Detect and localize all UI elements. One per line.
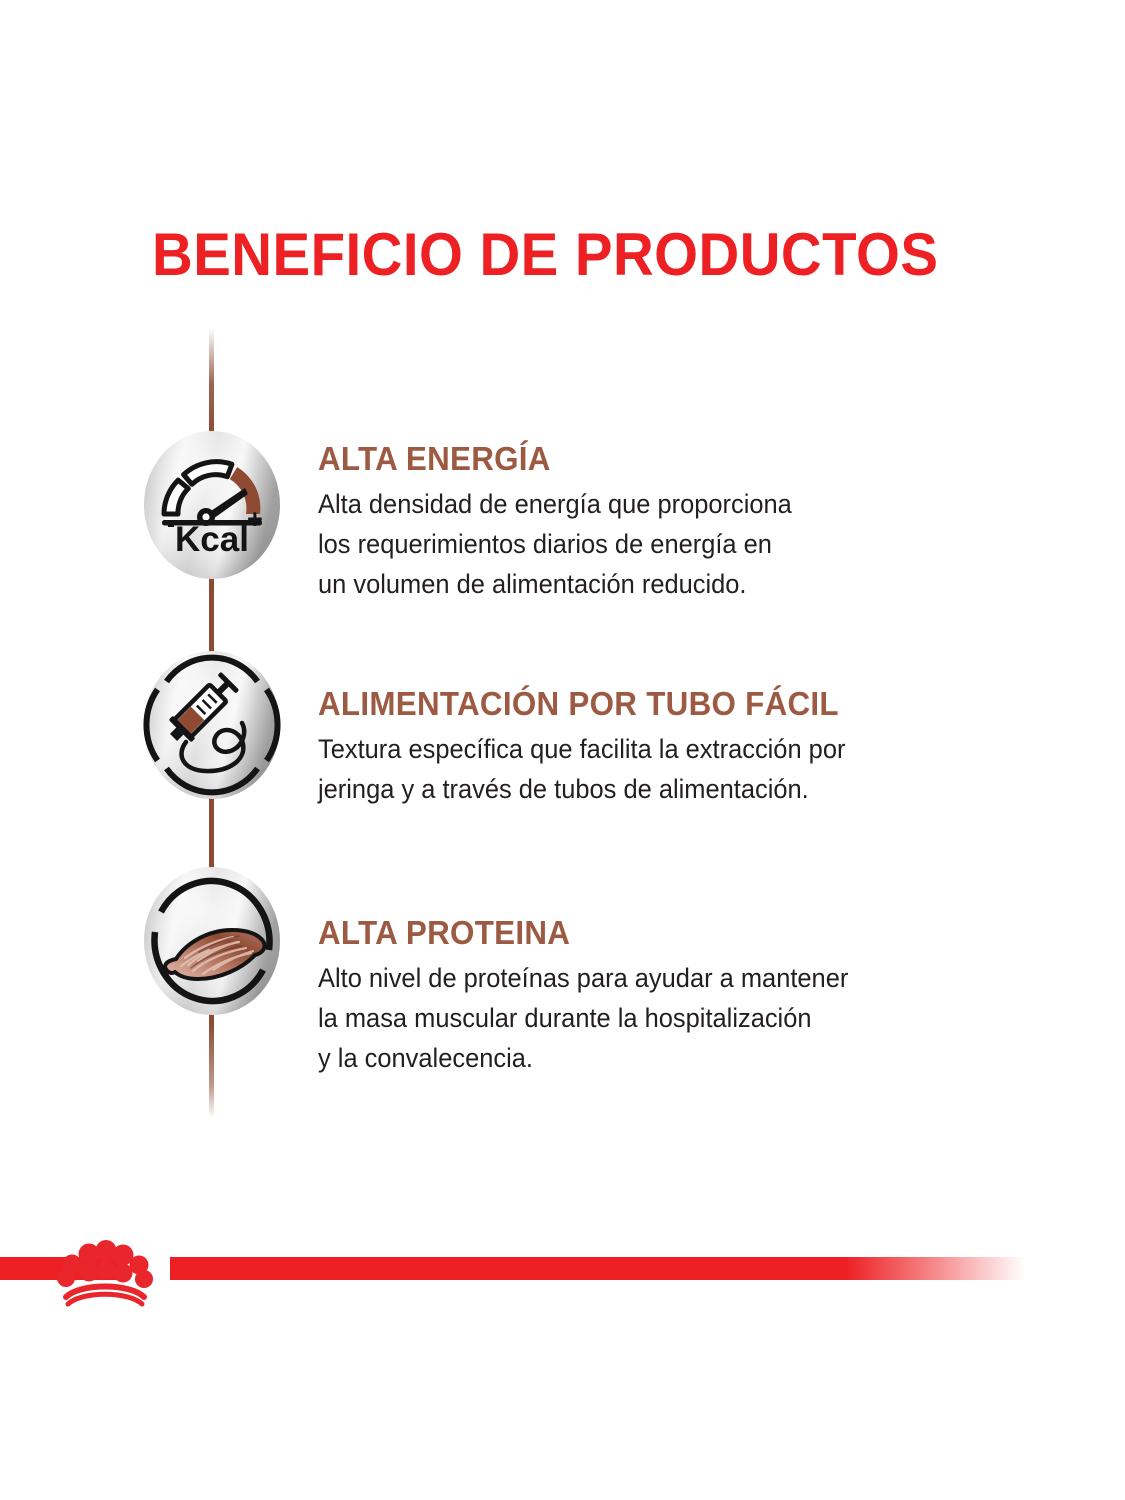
syringe-feeding-tube-icon (143, 650, 281, 800)
kcal-gauge-icon: - + Kcal (143, 430, 281, 580)
benefit-text-block: ALTA ENERGÍA Alta densidad de energía qu… (318, 440, 938, 604)
muscle-icon (143, 866, 281, 1016)
benefit-text-block: ALIMENTACIÓN POR TUBO FÁCIL Textura espe… (318, 685, 938, 809)
svg-text:Kcal: Kcal (175, 520, 249, 559)
footer-bar-right (170, 1257, 1025, 1280)
footer (0, 1240, 1125, 1310)
benefit-body: Alto nivel de proteínas para ayudar a ma… (318, 958, 913, 1078)
royal-canin-crown-logo (44, 1240, 164, 1308)
benefit-heading: ALIMENTACIÓN POR TUBO FÁCIL (318, 685, 907, 723)
svg-text:+: + (247, 504, 263, 534)
benefit-heading: ALTA PROTEINA (318, 914, 907, 952)
benefit-heading: ALTA ENERGÍA (318, 440, 907, 478)
page-title: BENEFICIO DE PRODUCTOS (152, 223, 932, 287)
benefit-body: Textura específica que facilita la extra… (318, 729, 913, 809)
benefit-body: Alta densidad de energía que proporciona… (318, 484, 913, 604)
svg-text:-: - (167, 511, 175, 538)
benefit-text-block: ALTA PROTEINA Alto nivel de proteínas pa… (318, 914, 938, 1078)
